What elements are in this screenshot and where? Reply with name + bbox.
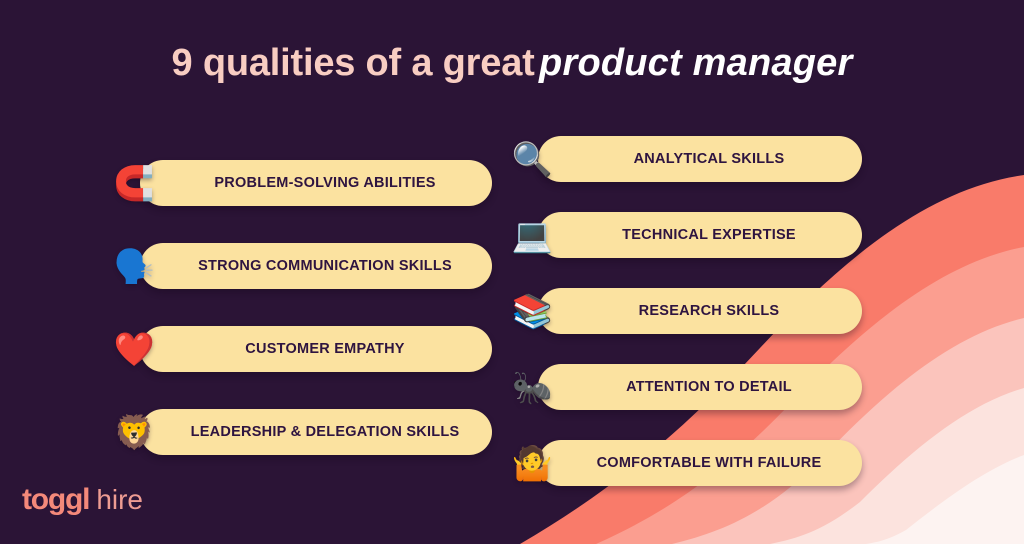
title-main-text: 9 qualities of a great bbox=[172, 42, 535, 84]
list-item[interactable]: ❤️ CUSTOMER EMPATHY bbox=[140, 326, 492, 372]
toggl-hire-logo[interactable]: toggl hire bbox=[22, 483, 143, 517]
books-icon: 📚 bbox=[510, 295, 554, 328]
page-title: 9 qualities of a great product manager bbox=[0, 42, 1024, 85]
list-item[interactable]: 💻 TECHNICAL EXPERTISE bbox=[538, 212, 862, 258]
list-item[interactable]: 🗣️ STRONG COMMUNICATION SKILLS bbox=[140, 243, 492, 289]
list-item[interactable]: 🔍 ANALYTICAL SKILLS bbox=[538, 136, 862, 182]
logo-product-text: hire bbox=[96, 484, 143, 516]
list-item[interactable]: 🤷 COMFORTABLE WITH FAILURE bbox=[538, 440, 862, 486]
laptop-icon: 💻 bbox=[510, 219, 554, 252]
title-accent-text: product manager bbox=[539, 42, 852, 84]
shrug-icon: 🤷 bbox=[510, 447, 554, 480]
quality-list-left: 🧲 PROBLEM-SOLVING ABILITIES 🗣️ STRONG CO… bbox=[140, 160, 492, 492]
lion-icon: 🦁 bbox=[112, 416, 156, 449]
ant-icon: 🐜 bbox=[510, 371, 554, 404]
pill-label: CUSTOMER EMPATHY bbox=[140, 341, 492, 357]
pill-label: RESEARCH SKILLS bbox=[538, 303, 862, 319]
wave-near-white-layer bbox=[866, 455, 1024, 544]
infographic-canvas: 9 qualities of a great product manager 🧲… bbox=[0, 0, 1024, 544]
red-heart-icon: ❤️ bbox=[112, 333, 156, 366]
list-item[interactable]: 🧲 PROBLEM-SOLVING ABILITIES bbox=[140, 160, 492, 206]
pill-label: TECHNICAL EXPERTISE bbox=[538, 227, 862, 243]
quality-list-right: 🔍 ANALYTICAL SKILLS 💻 TECHNICAL EXPERTIS… bbox=[538, 136, 862, 516]
logo-brand-text: toggl bbox=[22, 483, 89, 517]
magnifying-glass-icon: 🔍 bbox=[510, 143, 554, 176]
pill-label: ATTENTION TO DETAIL bbox=[538, 379, 862, 395]
speaking-head-icon: 🗣️ bbox=[112, 250, 156, 283]
pill-label: LEADERSHIP & DELEGATION SKILLS bbox=[140, 424, 492, 440]
magnet-icon: 🧲 bbox=[112, 167, 156, 200]
pill-label: STRONG COMMUNICATION SKILLS bbox=[140, 258, 492, 274]
list-item[interactable]: 📚 RESEARCH SKILLS bbox=[538, 288, 862, 334]
pill-label: PROBLEM-SOLVING ABILITIES bbox=[140, 175, 492, 191]
list-item[interactable]: 🦁 LEADERSHIP & DELEGATION SKILLS bbox=[140, 409, 492, 455]
pill-label: ANALYTICAL SKILLS bbox=[538, 151, 862, 167]
list-item[interactable]: 🐜 ATTENTION TO DETAIL bbox=[538, 364, 862, 410]
pill-label: COMFORTABLE WITH FAILURE bbox=[538, 455, 862, 471]
